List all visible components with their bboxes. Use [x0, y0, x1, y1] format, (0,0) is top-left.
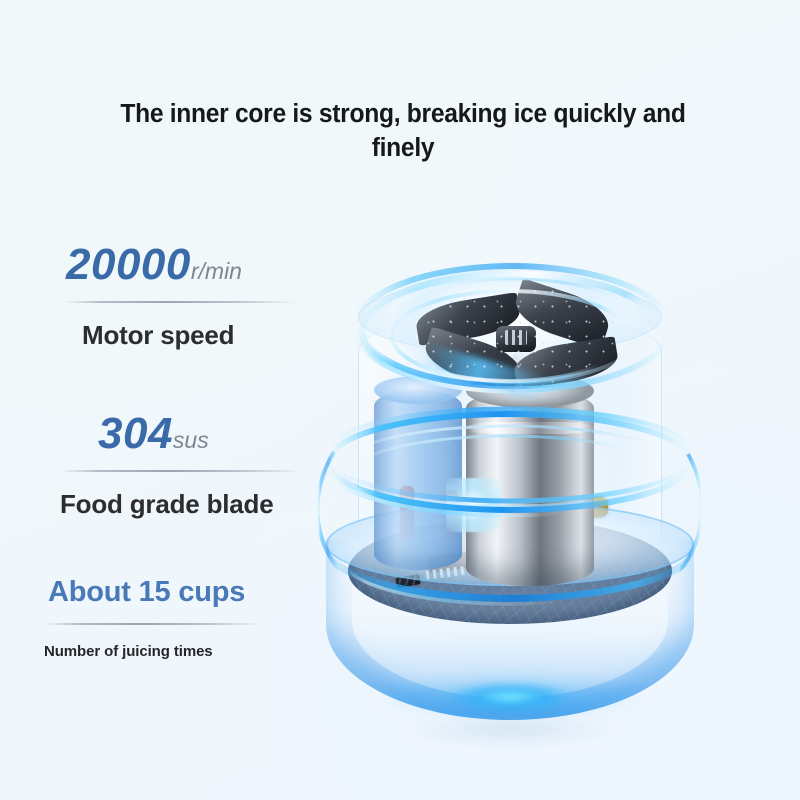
spec-value-blade: 304 [98, 409, 173, 458]
spec-label-blade: Food grade blade [60, 489, 302, 520]
spec-value-motor-speed: 20000 [66, 240, 191, 289]
motor-highlight-band [466, 422, 594, 434]
product-image [300, 240, 720, 760]
spec-label-motor-speed: Motor speed [64, 320, 296, 351]
spec-value-cups: About 15 cups [44, 578, 262, 607]
page-title: The inner core is strong, breaking ice q… [89, 98, 716, 165]
spec-food-grade-blade: 304sus Food grade blade [60, 412, 302, 520]
spec-value-row: 20000r/min [64, 243, 296, 287]
product-infographic: The inner core is strong, breaking ice q… [0, 0, 800, 800]
spec-motor-speed: 20000r/min Motor speed [64, 243, 296, 351]
spec-unit-blade: sus [173, 427, 209, 453]
spec-divider [64, 301, 296, 303]
spec-unit-motor-speed: r/min [191, 258, 242, 284]
spec-juicing-times: About 15 cups Number of juicing times [44, 578, 262, 660]
spec-value-row: 304sus [60, 412, 302, 456]
sparkle-icon [446, 478, 500, 532]
particle-speckles [408, 284, 620, 388]
spec-label-cups: Number of juicing times [44, 643, 262, 660]
spec-divider [44, 623, 262, 625]
base-glow-highlight [420, 676, 600, 718]
spec-divider [60, 470, 302, 472]
